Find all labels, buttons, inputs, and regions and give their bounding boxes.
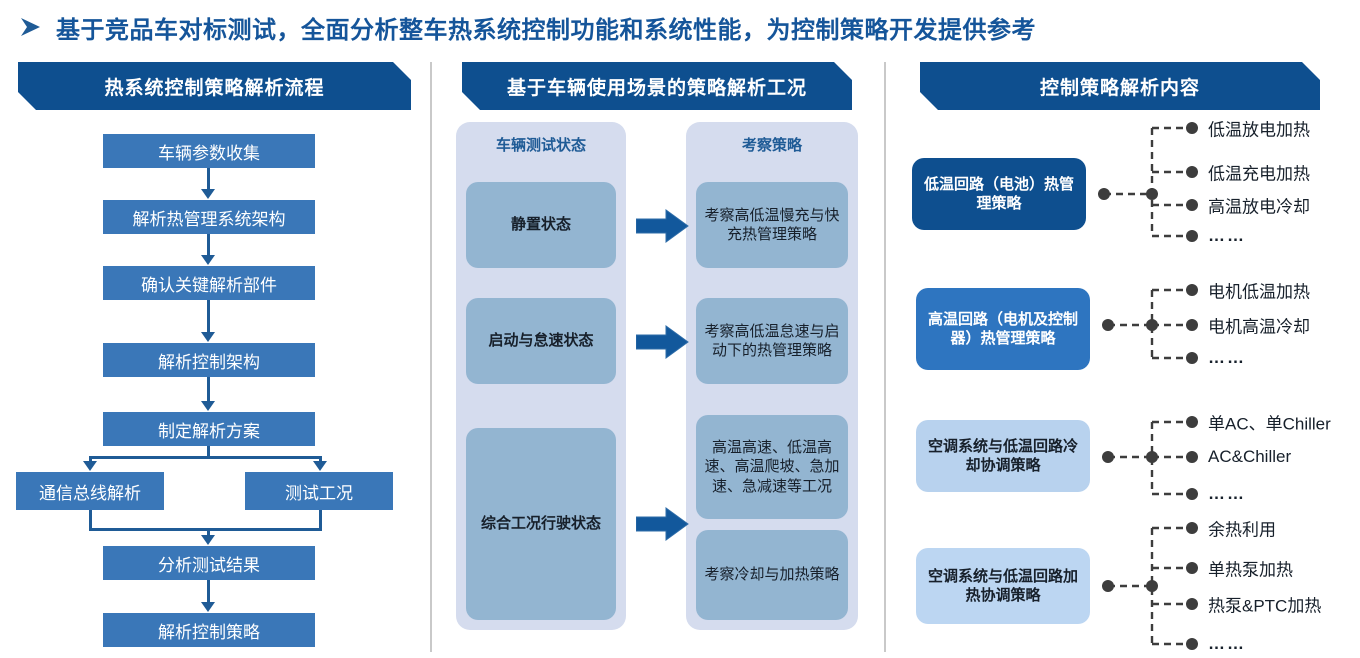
state-card-3[interactable]: 综合工况行驶状态 (466, 428, 616, 620)
strategy-leaf-1-4: …… (1208, 226, 1246, 246)
flow-branch-left[interactable]: 通信总线解析 (16, 472, 164, 510)
chevron-right-icon (18, 15, 44, 39)
flow-arrowhead-2 (201, 255, 215, 265)
flow-step-5[interactable]: 制定解析方案 (103, 412, 315, 446)
strategy-group-card-2-label: 高温回路（电机及控制器）热管理策略 (924, 310, 1082, 349)
middle-panel-strategies-title: 考察策略 (686, 134, 858, 155)
flow-step-3[interactable]: 确认关键解析部件 (103, 266, 315, 300)
strategy-leaf-2-1: 电机低温加热 (1208, 278, 1310, 303)
strategy-leaf-3-1: 单AC、单Chiller (1208, 410, 1331, 435)
flow-step-2-label: 解析热管理系统架构 (133, 205, 286, 230)
strategy-card-3[interactable]: 高温高速、低温高速、高温爬坡、急加速、急减速等工况 (696, 415, 848, 519)
strategy-leaf-3-3: …… (1208, 484, 1246, 504)
flow-connector-1 (207, 168, 210, 190)
strategy-group-card-1[interactable]: 低温回路（电池）热管理策略 (912, 158, 1086, 230)
flow-step-6-label: 分析测试结果 (158, 551, 260, 576)
section-header-right-text: 控制策略解析内容 (1040, 73, 1200, 100)
strategy-leaf-2-2: 电机高温冷却 (1208, 313, 1310, 338)
section-header-left-text: 热系统控制策略解析流程 (104, 73, 324, 100)
state-card-1-label: 静置状态 (511, 215, 571, 234)
flow-branch-right-label: 测试工况 (285, 479, 353, 504)
flow-split-right-arrowhead (313, 461, 327, 471)
page-title: 基于竞品车对标测试，全面分析整车热系统控制功能和系统性能，为控制策略开发提供参考 (18, 8, 1348, 46)
state-card-2-label: 启动与怠速状态 (488, 331, 593, 350)
strategy-leaf-4-1: 余热利用 (1208, 516, 1276, 541)
flow-step-1-label: 车辆参数收集 (158, 139, 260, 164)
strategy-card-2-label: 考察高低温怠速与启动下的热管理策略 (704, 322, 840, 360)
strategy-group-card-2[interactable]: 高温回路（电机及控制器）热管理策略 (916, 288, 1090, 370)
flow-step-7-label: 解析控制策略 (158, 618, 260, 643)
right-arrow-icon-2 (636, 324, 690, 360)
flow-step-6[interactable]: 分析测试结果 (103, 546, 315, 580)
strategy-card-3-label: 高温高速、低温高速、高温爬坡、急加速、急减速等工况 (704, 438, 840, 496)
strategy-group-card-4[interactable]: 空调系统与低温回路加热协调策略 (916, 548, 1090, 624)
flow-step-2[interactable]: 解析热管理系统架构 (103, 200, 315, 234)
flow-arrowhead-4 (201, 401, 215, 411)
flow-branch-left-label: 通信总线解析 (39, 479, 141, 504)
strategy-leaf-1-1: 低温放电加热 (1208, 116, 1310, 141)
strategy-leaf-1-3: 高温放电冷却 (1208, 193, 1310, 218)
middle-panel-states-title: 车辆测试状态 (456, 134, 626, 155)
strategy-leaf-3-2: AC&Chiller (1208, 447, 1291, 467)
section-header-middle: 基于车辆使用场景的策略解析工况 (462, 62, 852, 110)
flow-step-4[interactable]: 解析控制架构 (103, 343, 315, 377)
flow-connector-5 (207, 580, 210, 603)
strategy-group-card-3-label: 空调系统与低温回路冷却协调策略 (924, 437, 1082, 476)
column-divider-1 (430, 62, 432, 652)
flow-branch-right[interactable]: 测试工况 (245, 472, 393, 510)
strategy-card-4-label: 考察冷却与加热策略 (704, 565, 839, 584)
strategy-group-card-3[interactable]: 空调系统与低温回路冷却协调策略 (916, 420, 1090, 492)
state-card-2[interactable]: 启动与怠速状态 (466, 298, 616, 384)
strategy-group-card-1-label: 低温回路（电池）热管理策略 (920, 175, 1078, 214)
flow-merge-bar (89, 528, 322, 531)
slide-root: 基于竞品车对标测试，全面分析整车热系统控制功能和系统性能，为控制策略开发提供参考… (0, 0, 1360, 658)
flow-step-4-label: 解析控制架构 (158, 348, 260, 373)
strategy-leaf-4-3: 热泵&PTC加热 (1208, 592, 1321, 617)
flow-step-7[interactable]: 解析控制策略 (103, 613, 315, 647)
strategy-leaf-2-3: …… (1208, 348, 1246, 368)
strategy-leaf-1-2: 低温充电加热 (1208, 160, 1310, 185)
flow-connector-2 (207, 234, 210, 256)
flow-step-5-label: 制定解析方案 (158, 417, 260, 442)
flow-step-1[interactable]: 车辆参数收集 (103, 134, 315, 168)
right-arrow-icon-3 (636, 506, 690, 542)
flow-arrowhead-1 (201, 189, 215, 199)
right-arrow-icon-1 (636, 208, 690, 244)
flow-connector-3 (207, 300, 210, 333)
flow-connector-4 (207, 377, 210, 402)
strategy-leaf-4-4: …… (1208, 634, 1246, 654)
column-divider-2 (884, 62, 886, 652)
flow-split-left-arrowhead (83, 461, 97, 471)
flow-arrowhead-5 (201, 602, 215, 612)
state-card-1[interactable]: 静置状态 (466, 182, 616, 268)
strategy-card-2[interactable]: 考察高低温怠速与启动下的热管理策略 (696, 298, 848, 384)
section-header-left: 热系统控制策略解析流程 (18, 62, 411, 110)
strategy-group-card-4-label: 空调系统与低温回路加热协调策略 (924, 567, 1082, 606)
state-card-3-label: 综合工况行驶状态 (481, 514, 601, 533)
flow-step-3-label: 确认关键解析部件 (141, 271, 277, 296)
flow-merge-arrowhead (201, 535, 215, 545)
strategy-card-4[interactable]: 考察冷却与加热策略 (696, 530, 848, 620)
strategy-leaf-4-2: 单热泵加热 (1208, 556, 1293, 581)
flow-arrowhead-3 (201, 332, 215, 342)
flow-split-bar (89, 456, 322, 459)
strategy-card-1[interactable]: 考察高低温慢充与快充热管理策略 (696, 182, 848, 268)
section-header-right: 控制策略解析内容 (920, 62, 1320, 110)
page-title-text: 基于竞品车对标测试，全面分析整车热系统控制功能和系统性能，为控制策略开发提供参考 (56, 10, 1036, 45)
section-header-middle-text: 基于车辆使用场景的策略解析工况 (507, 73, 807, 100)
strategy-card-1-label: 考察高低温慢充与快充热管理策略 (704, 206, 840, 244)
